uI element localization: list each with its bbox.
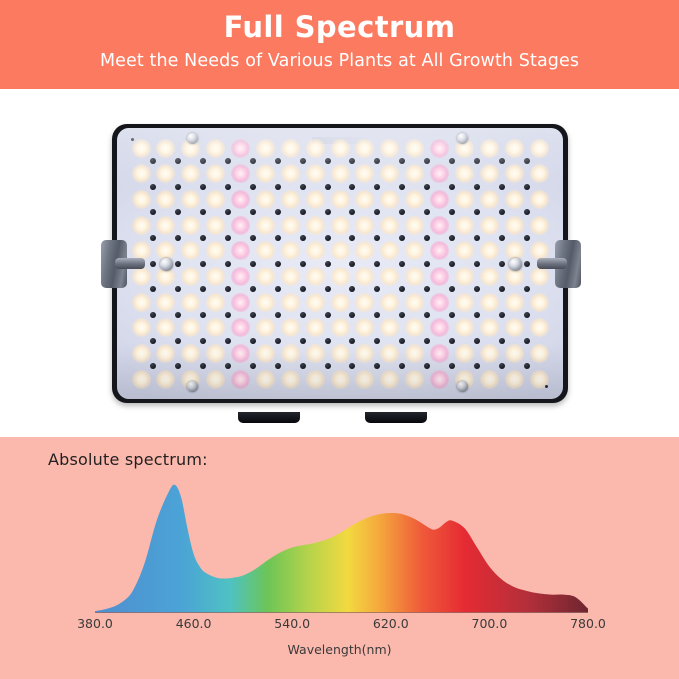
header-banner: Full Spectrum Meet the Needs of Various … <box>0 0 679 89</box>
led-pink <box>430 139 449 158</box>
led-warm-white <box>256 267 275 286</box>
diode-dot <box>225 235 231 241</box>
mounting-bracket-left <box>101 240 127 288</box>
diode-dot <box>325 184 331 190</box>
led-warm-white <box>530 164 549 183</box>
diode-dot <box>250 158 256 164</box>
diode-dot <box>200 312 206 318</box>
diode-dot <box>200 184 206 190</box>
led-warm-white <box>480 318 499 337</box>
diode-dot <box>449 338 455 344</box>
led-warm-white <box>181 216 200 235</box>
mounting-bolt-right <box>509 258 522 271</box>
led-pink <box>430 216 449 235</box>
led-warm-white <box>331 267 350 286</box>
diode-dot <box>524 286 530 292</box>
led-warm-white <box>331 216 350 235</box>
led-warm-white <box>156 318 175 337</box>
led-warm-white <box>380 216 399 235</box>
led-pink <box>430 293 449 312</box>
led-warm-white <box>480 164 499 183</box>
diode-dot <box>499 235 505 241</box>
diode-dot <box>424 312 430 318</box>
led-warm-white <box>455 293 474 312</box>
diode-dot <box>250 184 256 190</box>
diode-dot <box>349 261 355 267</box>
led-warm-white <box>380 190 399 209</box>
led-warm-white <box>306 139 325 158</box>
led-warm-white <box>156 164 175 183</box>
diode-dot <box>150 261 156 267</box>
diode-dot <box>300 235 306 241</box>
led-pink <box>231 241 250 260</box>
diode-dot <box>449 261 455 267</box>
led-warm-white <box>505 370 524 389</box>
led-warm-white <box>181 164 200 183</box>
diode-dot <box>424 338 430 344</box>
diode-dot <box>499 338 505 344</box>
diode-dot <box>474 338 480 344</box>
led-warm-white <box>530 293 549 312</box>
diode-dot <box>300 261 306 267</box>
led-warm-white <box>380 139 399 158</box>
diode-dot <box>374 158 380 164</box>
led-pink <box>430 164 449 183</box>
led-warm-white <box>331 241 350 260</box>
led-warm-white <box>256 216 275 235</box>
led-warm-white <box>530 267 549 286</box>
led-warm-white <box>331 318 350 337</box>
led-pink <box>231 344 250 363</box>
diode-dot <box>150 184 156 190</box>
diode-dot <box>524 209 530 215</box>
led-warm-white <box>206 241 225 260</box>
diode-dot <box>474 235 480 241</box>
diode-dot <box>250 235 256 241</box>
led-warm-white <box>206 318 225 337</box>
diode-dot <box>200 261 206 267</box>
led-warm-white <box>281 293 300 312</box>
led-warm-white <box>281 344 300 363</box>
led-warm-white <box>181 318 200 337</box>
diode-dot <box>200 158 206 164</box>
led-pink <box>231 293 250 312</box>
led-warm-white <box>256 164 275 183</box>
led-warm-white <box>380 318 399 337</box>
diode-dot <box>250 338 256 344</box>
diode-dot <box>225 261 231 267</box>
led-warm-white <box>132 344 151 363</box>
led-warm-white <box>355 267 374 286</box>
x-tick-780-0: 780.0 <box>570 616 606 631</box>
diode-dot <box>499 312 505 318</box>
led-warm-white <box>480 190 499 209</box>
diode-dot <box>150 363 156 369</box>
led-warm-white <box>206 293 225 312</box>
diode-dot <box>399 312 405 318</box>
led-warm-white <box>132 139 151 158</box>
spectrum-curve <box>95 485 588 613</box>
diode-dot <box>449 235 455 241</box>
bottom-connector-left <box>238 412 300 423</box>
diode-dot <box>275 363 281 369</box>
diode-dot <box>300 312 306 318</box>
diode-dot <box>150 312 156 318</box>
screw-bottom-right <box>457 381 468 392</box>
diode-dot <box>275 286 281 292</box>
led-warm-white <box>281 216 300 235</box>
diode-dot <box>300 286 306 292</box>
diode-dot <box>399 235 405 241</box>
diode-dot <box>225 363 231 369</box>
led-warm-white <box>206 164 225 183</box>
led-warm-white <box>256 318 275 337</box>
led-warm-white <box>455 216 474 235</box>
led-warm-white <box>530 318 549 337</box>
diode-dot <box>499 261 505 267</box>
diode-dot <box>499 158 505 164</box>
led-warm-white <box>380 293 399 312</box>
led-warm-white <box>505 190 524 209</box>
led-warm-white <box>256 293 275 312</box>
led-warm-white <box>206 267 225 286</box>
corner-marker-top-left <box>131 138 134 141</box>
diode-dot <box>499 286 505 292</box>
diode-dot <box>275 235 281 241</box>
diode-dot <box>474 312 480 318</box>
led-warm-white <box>306 318 325 337</box>
led-warm-white <box>355 190 374 209</box>
led-warm-white <box>355 164 374 183</box>
diode-dot <box>449 209 455 215</box>
diode-dot <box>349 312 355 318</box>
diode-dot <box>399 286 405 292</box>
diode-dot <box>325 363 331 369</box>
led-warm-white <box>380 241 399 260</box>
led-warm-white <box>281 318 300 337</box>
x-tick-540-0: 540.0 <box>274 616 310 631</box>
diode-dot <box>374 184 380 190</box>
led-warm-white <box>530 190 549 209</box>
diode-dot <box>449 184 455 190</box>
diode-dot <box>374 312 380 318</box>
led-warm-white <box>505 164 524 183</box>
diode-dot <box>225 286 231 292</box>
led-warm-white <box>380 164 399 183</box>
diode-dot <box>474 184 480 190</box>
led-warm-white <box>405 344 424 363</box>
led-warm-white <box>206 370 225 389</box>
led-warm-white <box>256 139 275 158</box>
led-warm-white <box>181 344 200 363</box>
page-title: Full Spectrum <box>224 8 456 46</box>
mounting-bracket-right <box>555 240 581 288</box>
diode-dot <box>275 312 281 318</box>
diode-dot <box>449 286 455 292</box>
diode-dot <box>325 286 331 292</box>
led-pink <box>231 318 250 337</box>
diode-dot <box>424 158 430 164</box>
diode-dot <box>524 338 530 344</box>
led-warm-white <box>281 164 300 183</box>
led-warm-white <box>355 318 374 337</box>
diode-dot <box>250 261 256 267</box>
spectrum-section: Absolute spectrum: <box>0 437 679 679</box>
led-warm-white <box>181 241 200 260</box>
diode-dot <box>300 338 306 344</box>
led-warm-white <box>455 164 474 183</box>
diode-dot <box>150 338 156 344</box>
x-axis-title: Wavelength(nm) <box>287 642 391 657</box>
diode-dot <box>374 286 380 292</box>
x-tick-700-0: 700.0 <box>471 616 507 631</box>
diode-dot <box>325 209 331 215</box>
led-pink <box>231 190 250 209</box>
diode-dot <box>424 209 430 215</box>
led-warm-white <box>331 370 350 389</box>
diode-dot <box>225 338 231 344</box>
diode-dot <box>349 158 355 164</box>
led-warm-white <box>156 293 175 312</box>
led-warm-white <box>331 293 350 312</box>
led-warm-white <box>206 190 225 209</box>
product-image-area <box>0 89 679 437</box>
diode-dot <box>474 261 480 267</box>
led-warm-white <box>505 139 524 158</box>
led-pink <box>231 370 250 389</box>
diode-dot <box>449 158 455 164</box>
led-warm-white <box>281 370 300 389</box>
page-subtitle: Meet the Needs of Various Plants at All … <box>100 48 579 74</box>
diode-dot <box>150 235 156 241</box>
diode-dot <box>399 338 405 344</box>
led-warm-white <box>132 370 151 389</box>
led-warm-white <box>256 370 275 389</box>
diode-dot <box>300 209 306 215</box>
diode-dot <box>474 363 480 369</box>
led-warm-white <box>331 164 350 183</box>
led-warm-white <box>405 293 424 312</box>
diode-dot <box>399 363 405 369</box>
diode-dot <box>325 261 331 267</box>
led-warm-white <box>206 344 225 363</box>
led-warm-white <box>132 293 151 312</box>
diode-dot <box>524 363 530 369</box>
diode-dot <box>175 338 181 344</box>
diode-dot <box>399 158 405 164</box>
led-warm-white <box>480 216 499 235</box>
diode-dot <box>275 338 281 344</box>
diode-dot <box>499 209 505 215</box>
led-warm-white <box>156 190 175 209</box>
led-warm-white <box>405 370 424 389</box>
screw-top-right <box>457 133 468 144</box>
diode-dot <box>250 209 256 215</box>
led-warm-white <box>455 241 474 260</box>
diode-dot <box>175 158 181 164</box>
led-warm-white <box>455 344 474 363</box>
x-tick-460-0: 460.0 <box>176 616 212 631</box>
diode-dot <box>399 209 405 215</box>
diode-dot <box>374 338 380 344</box>
diode-dot <box>349 184 355 190</box>
diode-dot <box>225 184 231 190</box>
led-warm-white <box>181 293 200 312</box>
diode-dot <box>200 209 206 215</box>
led-warm-white <box>306 216 325 235</box>
diode-dot <box>424 261 430 267</box>
diode-dot <box>499 363 505 369</box>
led-warm-white <box>405 164 424 183</box>
led-warm-white <box>281 190 300 209</box>
led-warm-white <box>156 370 175 389</box>
diode-dot <box>349 363 355 369</box>
led-pink <box>430 370 449 389</box>
led-warm-white <box>405 139 424 158</box>
diode-dot <box>325 235 331 241</box>
led-warm-white <box>530 216 549 235</box>
led-warm-white <box>132 318 151 337</box>
diode-dot <box>349 209 355 215</box>
bottom-connector-right <box>365 412 427 423</box>
led-warm-white <box>306 164 325 183</box>
led-warm-white <box>355 241 374 260</box>
diode-dot <box>175 261 181 267</box>
diode-dot <box>300 363 306 369</box>
led-warm-white <box>206 139 225 158</box>
led-warm-white <box>306 267 325 286</box>
led-warm-white <box>156 139 175 158</box>
mounting-bolt-left <box>160 258 173 271</box>
led-warm-white <box>355 216 374 235</box>
diode-dot <box>374 235 380 241</box>
diode-dot <box>225 312 231 318</box>
led-warm-white <box>181 190 200 209</box>
led-warm-white <box>455 190 474 209</box>
diode-dot <box>449 363 455 369</box>
led-grow-light-panel <box>110 122 572 414</box>
led-warm-white <box>256 190 275 209</box>
diode-dot <box>275 261 281 267</box>
screw-bottom-left <box>187 381 198 392</box>
led-warm-white <box>480 344 499 363</box>
diode-dot <box>250 363 256 369</box>
diode-dot <box>499 184 505 190</box>
led-warm-white <box>132 216 151 235</box>
diode-dot <box>200 286 206 292</box>
diode-dot <box>424 184 430 190</box>
diode-dot <box>200 338 206 344</box>
led-warm-white <box>405 241 424 260</box>
led-warm-white <box>156 344 175 363</box>
led-warm-white <box>505 216 524 235</box>
led-warm-white <box>530 139 549 158</box>
corner-marker-bottom-right <box>545 385 548 388</box>
led-pink <box>231 164 250 183</box>
diode-dot <box>474 286 480 292</box>
diode-dot <box>424 235 430 241</box>
x-tick-380-0: 380.0 <box>77 616 113 631</box>
led-pink <box>231 216 250 235</box>
diode-dot <box>275 158 281 164</box>
diode-dot <box>349 235 355 241</box>
diode-dot <box>175 363 181 369</box>
led-warm-white <box>355 139 374 158</box>
led-warm-white <box>355 344 374 363</box>
led-warm-white <box>455 318 474 337</box>
diode-dot <box>399 261 405 267</box>
diode-dot <box>200 235 206 241</box>
led-warm-white <box>405 216 424 235</box>
led-warm-white <box>132 190 151 209</box>
led-warm-white <box>306 344 325 363</box>
diode-dot <box>325 338 331 344</box>
diode-dot <box>175 209 181 215</box>
led-warm-white <box>480 370 499 389</box>
led-warm-white <box>281 241 300 260</box>
led-warm-white <box>455 267 474 286</box>
led-warm-white <box>380 267 399 286</box>
diode-dot <box>275 209 281 215</box>
led-warm-white <box>132 267 151 286</box>
diode-dot <box>524 184 530 190</box>
diode-dot <box>175 286 181 292</box>
led-warm-white <box>306 293 325 312</box>
led-warm-white <box>355 293 374 312</box>
led-warm-white <box>331 139 350 158</box>
diode-dot <box>424 363 430 369</box>
led-warm-white <box>405 190 424 209</box>
led-warm-white <box>505 293 524 312</box>
led-warm-white <box>405 267 424 286</box>
diode-dot <box>524 312 530 318</box>
diode-dot <box>300 184 306 190</box>
diode-dot <box>200 363 206 369</box>
led-pink <box>231 139 250 158</box>
led-warm-white <box>206 216 225 235</box>
diode-dot <box>399 184 405 190</box>
led-warm-white <box>331 190 350 209</box>
diode-dot <box>175 235 181 241</box>
diode-dot <box>524 235 530 241</box>
diode-dot <box>300 158 306 164</box>
led-warm-white <box>181 267 200 286</box>
screw-top-left <box>187 133 198 144</box>
diode-dot <box>250 312 256 318</box>
diode-dot <box>374 363 380 369</box>
diode-dot <box>325 312 331 318</box>
led-warm-white <box>480 139 499 158</box>
led-warm-white <box>331 344 350 363</box>
led-warm-white <box>156 216 175 235</box>
diode-dot <box>225 158 231 164</box>
diode-dot <box>524 261 530 267</box>
diode-dot <box>374 209 380 215</box>
led-warm-white <box>355 370 374 389</box>
led-warm-white <box>480 241 499 260</box>
diode-dot <box>150 286 156 292</box>
diode-dot <box>474 158 480 164</box>
led-warm-white <box>505 318 524 337</box>
led-warm-white <box>405 318 424 337</box>
led-pink <box>430 241 449 260</box>
panel-diffuser-face <box>117 128 563 399</box>
diode-dot <box>225 209 231 215</box>
led-pink <box>430 267 449 286</box>
diode-dot <box>150 158 156 164</box>
led-warm-white <box>380 370 399 389</box>
diode-dot <box>250 286 256 292</box>
